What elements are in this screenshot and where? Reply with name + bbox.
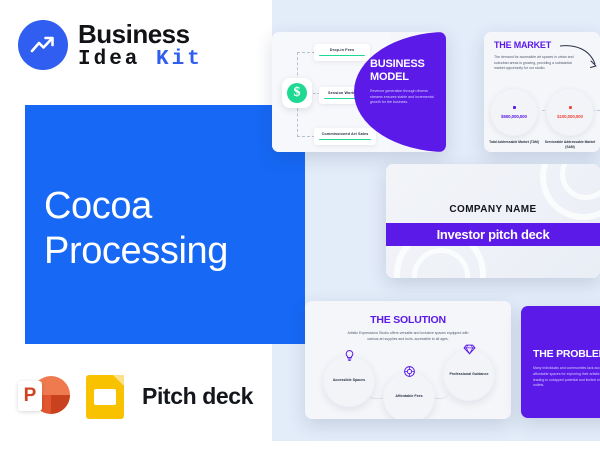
diamond-icon — [461, 341, 477, 357]
google-slides-icon — [84, 370, 128, 422]
solution-title: THE SOLUTION — [305, 314, 511, 326]
market-metric-dot — [569, 106, 572, 109]
slide-the-problem[interactable]: THE PROBLEM Many individuals and communi… — [521, 306, 600, 418]
slide-the-market[interactable]: THE MARKET The demand for accessible art… — [484, 32, 600, 152]
hero-title-line-1: Cocoa — [44, 184, 228, 229]
problem-description: Many individuals and communities lack ac… — [533, 366, 600, 389]
solution-features: Accessible Spaces Affordable Fees P — [323, 349, 495, 413]
market-metric-dot — [513, 106, 516, 109]
business-model-description: Revenue generation through diverse strea… — [370, 89, 438, 106]
target-icon — [401, 363, 417, 379]
slides-fold — [113, 375, 124, 386]
pitch-headline: Investor pitch deck — [437, 227, 550, 242]
solution-feature-label: Accessible Spaces — [333, 378, 365, 383]
market-metric-circle: $500,000,000 — [490, 88, 538, 136]
dollar-glyph: $ — [287, 83, 307, 103]
solution-feature-label: Professional Guidance — [450, 372, 489, 377]
business-model-item-label: Commissioned Art Sales — [319, 132, 371, 136]
lightbulb-icon — [341, 347, 357, 363]
market-metric-caption: Total Addressable Market (TAM) — [485, 140, 543, 145]
problem-text-block: THE PROBLEM Many individuals and communi… — [521, 306, 600, 389]
market-metric-circle: $100,000,000 — [546, 88, 594, 136]
poster-canvas: Business Idea Kit Cocoa Processing P Pit… — [0, 0, 600, 449]
pitch-deck-label: Pitch deck — [142, 383, 253, 410]
business-model-text-block: BUSINESS MODEL Revenue generation throug… — [354, 32, 446, 106]
dollar-icon: $ — [282, 78, 312, 108]
solution-feature-label: Affordable Fees — [395, 394, 422, 399]
hero-title-line-2: Processing — [44, 229, 228, 274]
brand-logo: Business Idea Kit — [18, 20, 203, 70]
powerpoint-icon: P — [18, 370, 70, 422]
trending-arrow-icon — [18, 20, 68, 70]
brand-idea-text: Idea — [78, 48, 156, 71]
business-model-item-bar — [319, 139, 371, 140]
market-metric-value: $100,000,000 — [557, 114, 583, 119]
slides-inner-rect — [94, 389, 116, 405]
business-model-title-line-2: MODEL — [370, 71, 438, 84]
slide-the-solution[interactable]: THE SOLUTION Artistic Expressions Studio… — [305, 301, 511, 419]
problem-title: THE PROBLEM — [533, 348, 600, 360]
business-model-connector-3 — [297, 136, 315, 137]
curved-arrow-icon — [558, 42, 600, 77]
pitch-company-name: COMPANY NAME — [386, 204, 600, 215]
powerpoint-letter: P — [18, 381, 42, 411]
slide-investor-pitch-deck[interactable]: COMPANY NAME Investor pitch deck — [386, 164, 600, 278]
pitch-headline-band: Investor pitch deck — [386, 223, 600, 246]
format-badges: P Pitch deck — [18, 370, 253, 422]
brand-kit-text: Kit — [156, 48, 203, 71]
business-model-connector-1 — [297, 52, 315, 53]
brand-line-2: Idea Kit — [78, 49, 203, 70]
market-metrics: $500,000,000 Total Addressable Market (T… — [490, 88, 594, 136]
solution-description: Artistic Expressions Studio offers versa… — [345, 331, 471, 343]
brand-wordmark: Business Idea Kit — [78, 21, 203, 70]
slide-business-model[interactable]: $ Drop-in Fees Session Workshops Commiss… — [272, 32, 446, 152]
brand-line-1: Business — [78, 21, 203, 47]
business-model-item: Commissioned Art Sales — [314, 128, 376, 145]
page-title: Cocoa Processing — [44, 184, 228, 274]
market-metric-caption: Serviceable Addressable Market (SAM) — [541, 140, 599, 150]
market-metric-value: $500,000,000 — [501, 114, 527, 119]
business-model-title-line-1: BUSINESS — [370, 58, 438, 71]
